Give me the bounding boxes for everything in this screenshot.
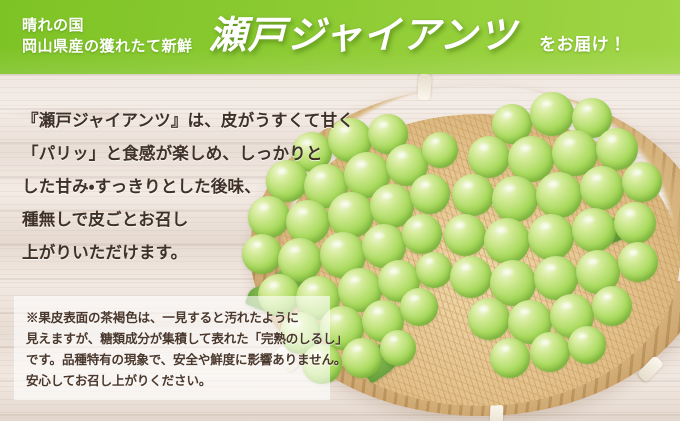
grape-berry [452,174,494,216]
body-copy-line: 上がりいただけます。 [22,236,352,269]
body-copy: 『瀬戸ジャイアンツ』は、皮がうすくて甘く 「パリッ」と食感が楽しめ、しっかりと … [22,104,352,269]
body-copy-line: 「パリッ」と食感が楽しめ、しっかりと [22,137,352,170]
grape-berry [422,132,458,168]
grape-berry [530,332,570,372]
grape-berry [622,162,662,202]
header-banner: 晴れの国 岡山県産の獲れたて新鮮 瀬戸ジャイアンツ をお届け！ [0,0,680,74]
header-lede: 晴れの国 岡山県産の獲れたて新鮮 [22,16,193,59]
header-deliver-text: をお届け！ [539,30,627,55]
grape-berry [568,326,606,364]
grape-berry [614,202,656,244]
grape-berry [416,252,452,288]
grape-berry [492,176,538,222]
grape-berry [468,298,510,340]
body-copy-line: した甘み・すっきりとした後味、 [22,170,352,203]
grape-berry [536,172,582,218]
grape-berry [618,242,658,282]
header-lede-line2: 岡山県産の獲れたて新鮮 [22,37,193,58]
promo-banner-image: 晴れの国 岡山県産の獲れたて新鮮 瀬戸ジャイアンツ をお届け！ [0,0,680,421]
grape-berry [572,208,616,252]
grape-berry [450,256,492,298]
grape-berry [402,214,442,254]
body-copy-line: 種無しで皮ごとお召し [22,203,352,236]
grape-berry [490,338,530,378]
body-copy-line: 『瀬戸ジャイアンツ』は、皮がうすくて甘く [22,104,352,137]
grape-berry [342,338,382,378]
grape-berry [380,330,416,366]
grape-berry [444,214,486,256]
grape-berry [528,214,574,260]
grape-berry [484,218,530,264]
grape-berry [468,136,510,178]
basket-tie [490,404,504,421]
disclaimer-note-line: ※果皮表面の茶褐色は、一見すると汚れたように [26,308,320,329]
disclaimer-note-line: 安心してお召し上がりください。 [26,371,320,392]
header-banner-content: 晴れの国 岡山県産の獲れたて新鮮 瀬戸ジャイアンツ をお届け！ [0,0,680,74]
product-brand-title: 瀬戸ジャイアンツ [209,17,518,55]
basket-tie [417,74,432,100]
disclaimer-note-line: 見えますが、糖類成分が集積して表れた「完熟のしるし」 [26,329,320,350]
grape-berry [400,288,438,326]
grape-berry [580,166,624,210]
disclaimer-note-line: です。品種特有の現象で、安全や鮮度に影響ありません。 [26,350,320,371]
grape-berry [592,286,632,326]
header-lede-line1: 晴れの国 [22,16,193,37]
grape-berry [530,92,574,136]
disclaimer-note-panel: ※果皮表面の茶褐色は、一見すると汚れたように 見えますが、糖類成分が集積して表れ… [14,296,330,400]
grape-berry [410,174,450,214]
